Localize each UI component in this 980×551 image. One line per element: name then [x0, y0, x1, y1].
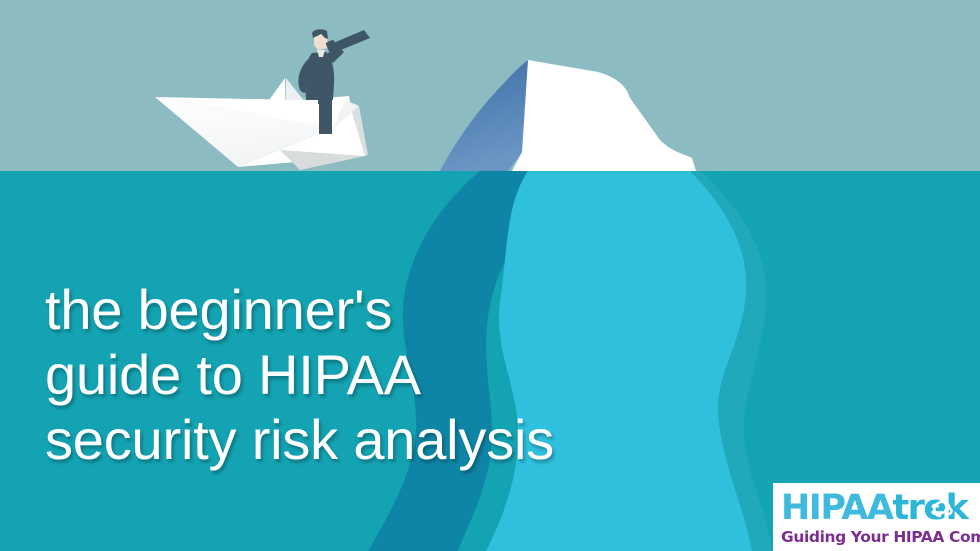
page-title: the beginner's guide to HIPAA security r…	[45, 278, 685, 473]
hipaa-banner: the beginner's guide to HIPAA security r…	[0, 0, 980, 551]
iceberg-white-tip	[512, 60, 696, 171]
figure-leg-front	[319, 96, 327, 134]
paper-boat	[155, 78, 368, 170]
iceberg-above-water	[440, 60, 696, 171]
headline-line-2: guide to HIPAA	[45, 343, 685, 408]
headline-line-3: security risk analysis	[45, 408, 685, 473]
logo-word-trek: trek	[892, 488, 967, 528]
logo-tagline: Guiding Your HIPAA Compliance	[781, 527, 980, 547]
logo-word-hipaa: HIPAA	[781, 488, 892, 528]
logo-wordmark: HIPAAtrek	[781, 489, 980, 527]
hipaatrek-logo[interactable]: HIPAAtrek Guiding Your HIPAA Compliance	[773, 483, 980, 551]
headline-line-1: the beginner's	[45, 278, 685, 343]
iceberg-shadow-face	[440, 60, 535, 171]
telescope-icon	[331, 30, 370, 52]
